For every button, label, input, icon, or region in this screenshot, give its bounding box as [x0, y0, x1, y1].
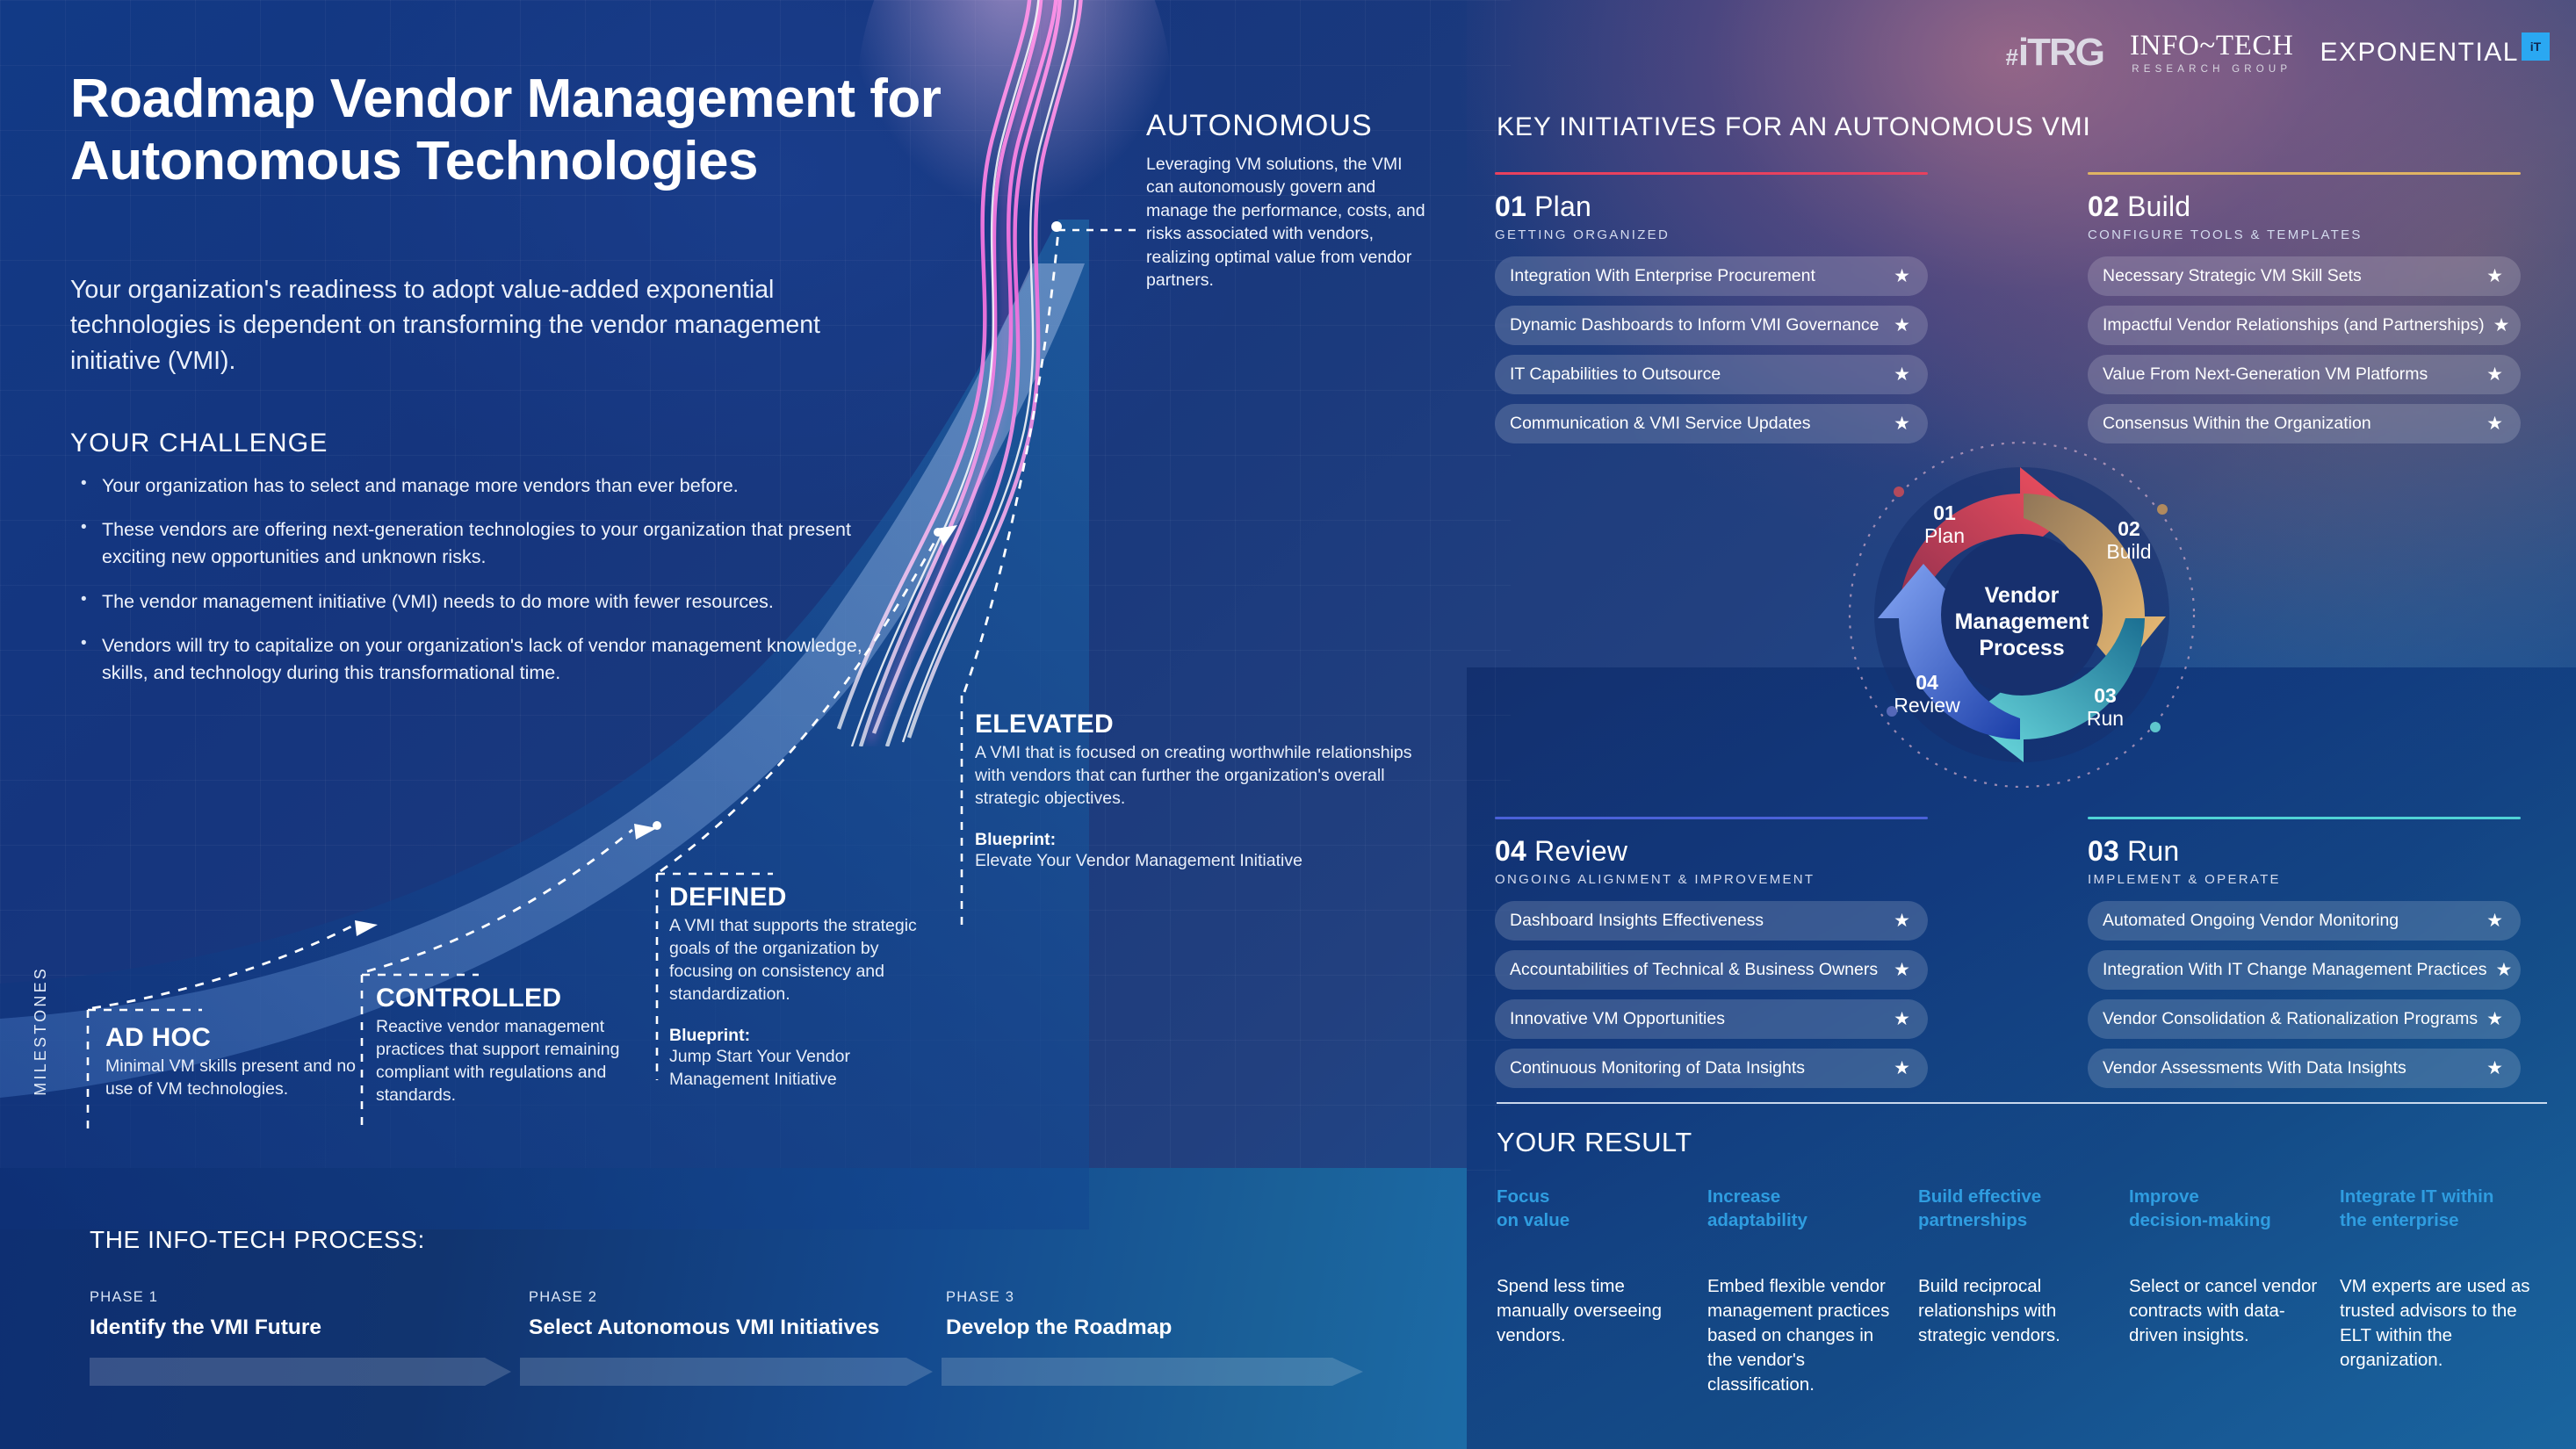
result-column: Improve decision-making Select or cancel…: [2129, 1185, 2340, 1397]
star-icon: ★: [1894, 1059, 1910, 1078]
milestone-title: AD HOC: [105, 1023, 378, 1053]
initiative-label: Vendor Assessments With Data Insights: [2103, 1058, 2478, 1078]
initiative-pill[interactable]: Accountabilities of Technical & Business…: [1495, 950, 1928, 990]
section-subtitle: CONFIGURE TOOLS & TEMPLATES: [2088, 227, 2521, 242]
result-column: Focus on value Spend less time manually …: [1497, 1185, 1707, 1397]
section-number: 02: [2088, 191, 2119, 222]
initiative-label: Value From Next-Generation VM Platforms: [2103, 364, 2478, 385]
process-heading: THE INFO-TECH PROCESS:: [90, 1226, 1433, 1254]
initiative-label: IT Capabilities to Outsource: [1510, 364, 1885, 385]
initiative-pill[interactable]: Vendor Consolidation & Rationalization P…: [2088, 999, 2521, 1039]
initiative-label: Dashboard Insights Effectiveness: [1510, 911, 1885, 931]
process-phase-3: PHASE 3 Develop the Roadmap: [946, 1289, 1315, 1342]
section-accent-rule: [1495, 172, 1928, 175]
initiative-pill[interactable]: Vendor Assessments With Data Insights ★: [2088, 1049, 2521, 1088]
milestone-blueprint-label: Blueprint:: [669, 1026, 933, 1046]
section-number: 03: [2088, 835, 2119, 867]
itrg-hash: #: [2005, 44, 2017, 71]
section-number: 04: [1495, 835, 1526, 867]
result-column-heading: Increase adaptability: [1707, 1185, 1899, 1232]
vmp-label-03-number: 03: [2094, 684, 2117, 707]
section-review: 04 Review ONGOING ALIGNMENT & IMPROVEMEN…: [1495, 817, 1928, 1098]
section-subtitle: IMPLEMENT & OPERATE: [2088, 872, 2521, 887]
initiative-label: Necessary Strategic VM Skill Sets: [2103, 266, 2478, 286]
challenge-item: Your organization has to select and mana…: [77, 472, 868, 500]
initiative-pill[interactable]: Innovative VM Opportunities ★: [1495, 999, 1928, 1039]
milestone-controlled: CONTROLLED Reactive vendor management pr…: [376, 984, 639, 1107]
initiative-pill[interactable]: Necessary Strategic VM Skill Sets ★: [2088, 256, 2521, 296]
star-icon: ★: [2496, 961, 2513, 979]
milestone-blueprint-label: Blueprint:: [975, 830, 1432, 850]
initiative-pill[interactable]: IT Capabilities to Outsource ★: [1495, 355, 1928, 394]
initiative-pill[interactable]: Impactful Vendor Relationships (and Part…: [2088, 306, 2521, 345]
key-initiatives-heading: KEY INITIATIVES FOR AN AUTONOMOUS VMI: [1497, 112, 2091, 142]
initiative-pill[interactable]: Integration With IT Change Management Pr…: [2088, 950, 2521, 990]
result-columns: Focus on value Spend less time manually …: [1497, 1185, 2551, 1397]
result-column-body: VM experts are used as trusted advisors …: [2340, 1274, 2531, 1373]
vmp-center-line1: Vendor: [1985, 583, 2060, 608]
result-column-heading: Improve decision-making: [2129, 1185, 2320, 1232]
vendor-management-process-diagram: Vendor Management Process 01 Plan 02 Bui…: [1793, 413, 2250, 825]
initiative-pill[interactable]: Continuous Monitoring of Data Insights ★: [1495, 1049, 1928, 1088]
it-badge-icon: iT: [2522, 32, 2550, 61]
result-heading: YOUR RESULT: [1497, 1127, 2551, 1158]
star-icon: ★: [2486, 1059, 2503, 1078]
milestones-axis-label: MILESTONES: [32, 966, 50, 1096]
milestone-elevated: ELEVATED A VMI that is focused on creati…: [975, 710, 1432, 873]
initiative-label: Automated Ongoing Vendor Monitoring: [2103, 911, 2478, 931]
result-column-heading: Focus on value: [1497, 1185, 1688, 1232]
challenge-list: Your organization has to select and mana…: [77, 472, 868, 703]
autonomous-callout: AUTONOMOUS Leveraging VM solutions, the …: [1146, 109, 1427, 292]
section-title: 02 Build: [2088, 191, 2521, 223]
autonomous-title: AUTONOMOUS: [1146, 109, 1427, 143]
result-column-body: Select or cancel vendor contracts with d…: [2129, 1274, 2320, 1348]
exponential-wordmark: EXPONENTIAL: [2320, 38, 2519, 68]
star-icon: ★: [2486, 365, 2503, 384]
section-build: 02 Build CONFIGURE TOOLS & TEMPLATES Nec…: [2088, 172, 2521, 453]
result-column-body: Spend less time manually overseeing vend…: [1497, 1274, 1688, 1348]
milestone-title: CONTROLLED: [376, 984, 639, 1013]
itrg-wordmark: iTRG: [2018, 31, 2103, 75]
initiative-label: Vendor Consolidation & Rationalization P…: [2103, 1009, 2478, 1029]
right-column: # iTRG INFO~TECH RESEARCH GROUP EXPONENT…: [1467, 0, 2576, 1449]
process-phase-1: PHASE 1 Identify the VMI Future: [90, 1289, 458, 1342]
phase-number: PHASE 1: [90, 1289, 458, 1306]
vmp-label-02-number: 02: [2118, 517, 2140, 540]
milestone-body: A VMI that supports the strategic goals …: [669, 915, 933, 1006]
initiative-label: Continuous Monitoring of Data Insights: [1510, 1058, 1885, 1078]
milestone-body: Reactive vendor management practices tha…: [376, 1016, 639, 1107]
page-title: Roadmap Vendor Management for Autonomous…: [70, 68, 949, 192]
vmp-center-line2: Management: [1955, 609, 2089, 634]
milestone-body: A VMI that is focused on creating worthw…: [975, 742, 1432, 811]
info-tech-research-group-logo: INFO~TECH RESEARCH GROUP: [2130, 30, 2293, 75]
logo-bar: # iTRG INFO~TECH RESEARCH GROUP EXPONENT…: [2005, 30, 2550, 75]
section-title: 03 Run: [2088, 835, 2521, 868]
left-column: Roadmap Vendor Management for Autonomous…: [0, 0, 1467, 1449]
star-icon: ★: [2486, 415, 2503, 433]
phase-number: PHASE 2: [529, 1289, 898, 1306]
initiative-pill[interactable]: Automated Ongoing Vendor Monitoring ★: [2088, 901, 2521, 941]
result-column: Build effective partnerships Build recip…: [1918, 1185, 2129, 1397]
vmp-label-01-number: 01: [1933, 501, 1956, 524]
section-run: 03 Run IMPLEMENT & OPERATE Automated Ong…: [2088, 817, 2521, 1098]
challenge-item: Vendors will try to capitalize on your o…: [77, 632, 868, 687]
section-accent-rule: [2088, 172, 2521, 175]
research-group-tagline: RESEARCH GROUP: [2130, 64, 2293, 75]
result-column-heading: Build effective partnerships: [1918, 1185, 2110, 1232]
star-icon: ★: [1894, 961, 1910, 979]
phase-arrow-bar: [90, 1358, 1363, 1386]
milestone-defined: DEFINED A VMI that supports the strategi…: [669, 883, 933, 1092]
vmp-label-03-name: Run: [2087, 707, 2124, 730]
info-tech-wordmark: INFO~TECH: [2130, 30, 2293, 62]
vmp-center-line3: Process: [1979, 636, 2064, 660]
process-phase-2: PHASE 2 Select Autonomous VMI Initiative…: [529, 1289, 898, 1342]
section-name: Run: [2127, 835, 2179, 867]
star-icon: ★: [2493, 316, 2510, 335]
star-icon: ★: [2486, 267, 2503, 285]
exponential-it-logo: EXPONENTIAL iT: [2320, 38, 2550, 68]
phase-number: PHASE 3: [946, 1289, 1315, 1306]
phase-name: Select Autonomous VMI Initiatives: [529, 1314, 898, 1342]
challenge-heading: YOUR CHALLENGE: [70, 429, 328, 458]
info-tech-process: THE INFO-TECH PROCESS: PHASE 1 Identify …: [90, 1226, 1433, 1395]
result-column: Integrate IT within the enterprise VM ex…: [2340, 1185, 2551, 1397]
initiative-label: Integration With IT Change Management Pr…: [2103, 960, 2487, 980]
result-column-body: Build reciprocal relationships with stra…: [1918, 1274, 2110, 1348]
star-icon: ★: [1894, 365, 1910, 384]
vmp-label-02-name: Build: [2106, 540, 2151, 563]
star-icon: ★: [1894, 1010, 1910, 1028]
result-divider: [1497, 1102, 2547, 1104]
star-icon: ★: [2486, 912, 2503, 930]
section-subtitle: GETTING ORGANIZED: [1495, 227, 1928, 242]
star-icon: ★: [1894, 912, 1910, 930]
star-icon: ★: [1894, 316, 1910, 335]
initiative-label: Accountabilities of Technical & Business…: [1510, 960, 1885, 980]
challenge-item: These vendors are offering next-generati…: [77, 516, 868, 571]
result-column-heading: Integrate IT within the enterprise: [2340, 1185, 2531, 1232]
section-name: Review: [1534, 835, 1627, 867]
milestone-body: Minimal VM skills present and no use of …: [105, 1056, 378, 1101]
vmp-label-04-name: Review: [1894, 694, 1960, 717]
milestone-blueprint: Elevate Your Vendor Management Initiativ…: [975, 850, 1432, 873]
vmp-label-01-name: Plan: [1924, 524, 1965, 547]
section-title: 04 Review: [1495, 835, 1928, 868]
page-subtitle: Your organization's readiness to adopt v…: [70, 272, 878, 378]
phase-name: Develop the Roadmap: [946, 1314, 1315, 1342]
section-subtitle: ONGOING ALIGNMENT & IMPROVEMENT: [1495, 872, 1928, 887]
section-number: 01: [1495, 191, 1526, 222]
star-icon: ★: [1894, 267, 1910, 285]
result-column-body: Embed flexible vendor management practic…: [1707, 1274, 1899, 1397]
section-name: Build: [2127, 191, 2190, 222]
milestone-title: ELEVATED: [975, 710, 1432, 739]
section-plan: 01 Plan GETTING ORGANIZED Integration Wi…: [1495, 172, 1928, 453]
vmp-label-04-number: 04: [1916, 671, 1938, 694]
initiative-pill[interactable]: Dashboard Insights Effectiveness ★: [1495, 901, 1928, 941]
milestone-ad-hoc: AD HOC Minimal VM skills present and no …: [105, 1023, 378, 1101]
initiative-pill[interactable]: Value From Next-Generation VM Platforms …: [2088, 355, 2521, 394]
your-result: YOUR RESULT Focus on value Spend less ti…: [1497, 1102, 2551, 1397]
milestone-blueprint: Jump Start Your Vendor Management Initia…: [669, 1046, 933, 1092]
initiative-label: Impactful Vendor Relationships (and Part…: [2103, 315, 2485, 335]
phase-name: Identify the VMI Future: [90, 1314, 458, 1342]
milestone-title: DEFINED: [669, 883, 933, 912]
section-title: 01 Plan: [1495, 191, 1928, 223]
autonomous-body: Leveraging VM solutions, the VMI can aut…: [1146, 153, 1427, 292]
initiative-pill[interactable]: Integration With Enterprise Procurement …: [1495, 256, 1928, 296]
initiative-pill[interactable]: Dynamic Dashboards to Inform VMI Governa…: [1495, 306, 1928, 345]
star-icon: ★: [2486, 1010, 2503, 1028]
initiative-label: Innovative VM Opportunities: [1510, 1009, 1885, 1029]
initiative-label: Dynamic Dashboards to Inform VMI Governa…: [1510, 315, 1885, 335]
result-column: Increase adaptability Embed flexible ven…: [1707, 1185, 1918, 1397]
challenge-item: The vendor management initiative (VMI) n…: [77, 588, 868, 616]
initiative-label: Integration With Enterprise Procurement: [1510, 266, 1885, 286]
infographic-canvas: Roadmap Vendor Management for Autonomous…: [0, 0, 2576, 1449]
itrg-logo: # iTRG: [2005, 31, 2103, 75]
section-name: Plan: [1534, 191, 1591, 222]
